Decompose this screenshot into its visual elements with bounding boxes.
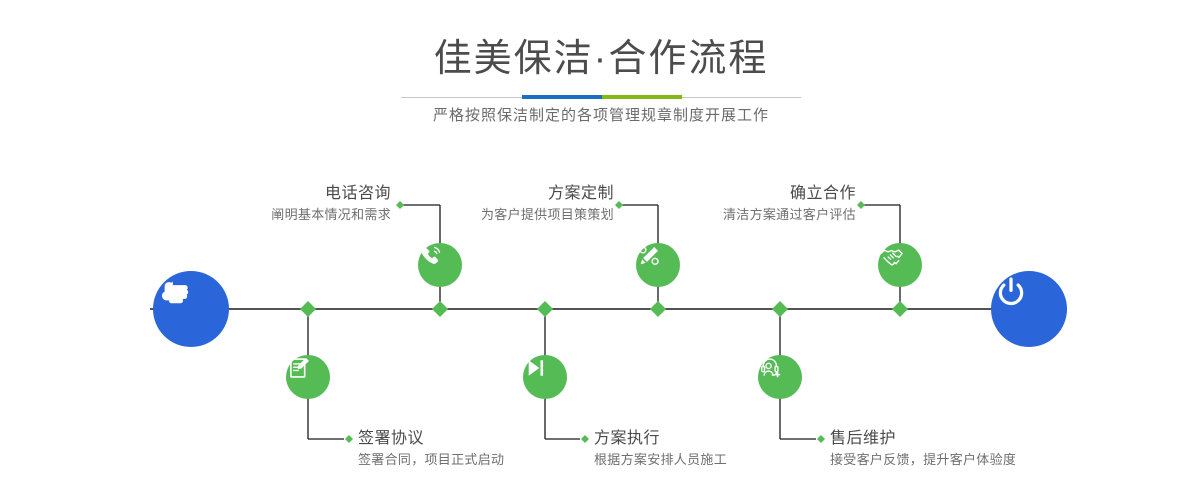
step-title-5: 确立合作 bbox=[592, 183, 856, 205]
step-title-3: 方案定制 bbox=[349, 183, 614, 205]
axis-node-diamond-3 bbox=[537, 301, 553, 317]
step-icon-pencil-design[interactable] bbox=[636, 243, 680, 287]
step-icon-document-edit[interactable] bbox=[286, 355, 330, 399]
step-icon-handshake[interactable] bbox=[878, 243, 922, 287]
divider-segment-blue bbox=[522, 95, 602, 99]
step-label-5: 确立合作 清洁方案通过客户评估 bbox=[592, 183, 856, 225]
page-title: 佳美保洁·合作流程 bbox=[0, 36, 1202, 82]
connector-step-5-diamond bbox=[857, 201, 865, 209]
step-desc-5: 清洁方案通过客户评估 bbox=[592, 205, 856, 225]
divider-segment-green bbox=[602, 95, 682, 99]
step-icon-play-next[interactable] bbox=[523, 355, 567, 399]
step-desc-3: 为客户提供项目策策划 bbox=[349, 205, 614, 225]
flow-start-node[interactable] bbox=[153, 271, 229, 347]
connector-step-2-diamond bbox=[345, 435, 353, 443]
page-subtitle: 严格按照保洁制定的各项管理规章制度开展工作 bbox=[0, 105, 1202, 127]
step-desc-6: 接受客户反馈，提升客户体验度 bbox=[830, 450, 1130, 470]
axis-node-diamond-2 bbox=[432, 301, 448, 317]
axis-node-diamond-6 bbox=[892, 301, 908, 317]
process-flow-diagram: 电话咨询 阐明基本情况和需求 方案定制 为客户提供项目策策划 确立合作 清洁方案… bbox=[0, 150, 1202, 502]
step-title-6: 售后维护 bbox=[830, 428, 1130, 450]
step-icon-phone-call[interactable] bbox=[418, 243, 462, 287]
page-header: 佳美保洁·合作流程 严格按照保洁制定的各项管理规章制度开展工作 bbox=[0, 0, 1202, 150]
axis-node-diamond-1 bbox=[300, 301, 316, 317]
axis-node-diamond-4 bbox=[650, 301, 666, 317]
axis-node-diamond-5 bbox=[772, 301, 788, 317]
flow-end-node[interactable] bbox=[991, 271, 1067, 347]
title-divider bbox=[401, 95, 801, 99]
step-icon-support-agent-add[interactable] bbox=[758, 355, 802, 399]
step-label-3: 方案定制 为客户提供项目策策划 bbox=[349, 183, 614, 225]
step-label-6: 售后维护 接受客户反馈，提升客户体验度 bbox=[830, 428, 1130, 470]
